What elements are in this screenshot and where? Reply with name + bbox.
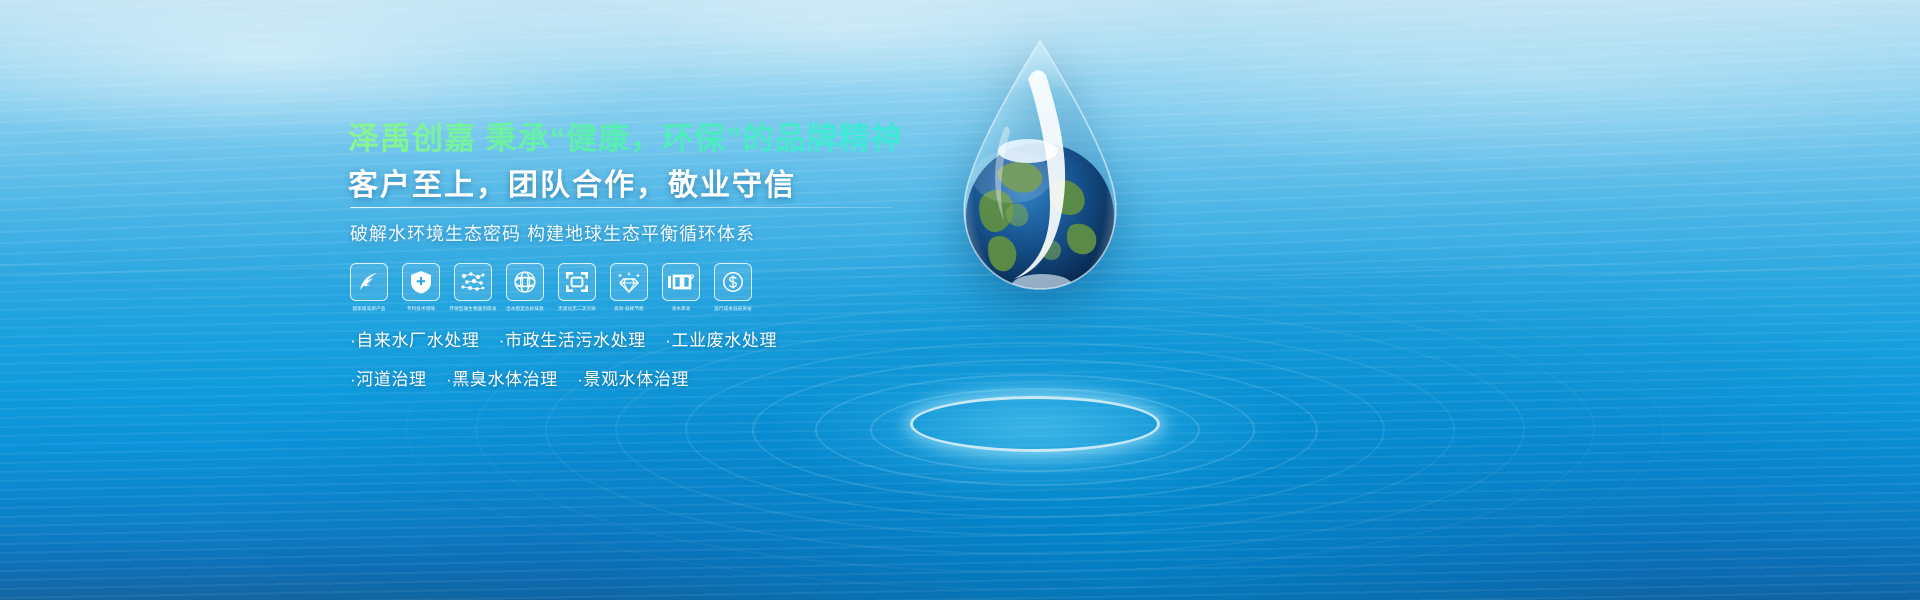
service-row-1: ·自来水厂水处理 ·市政生活污水处理 ·工业废水处理 [350, 326, 990, 351]
headline-brand-spirit: 泽禹创嘉 秉承“健康，环保”的品牌精神 [348, 113, 1048, 158]
feature-badge-row: 国家级高新产品 专利技术保障 [350, 263, 752, 310]
badge-diamond[interactable]: 高效 低耗节能 [610, 263, 648, 310]
hundred-percent-icon [662, 263, 700, 301]
service-item[interactable]: ·景观水体治理 [577, 370, 689, 389]
water-treatment-banner: 泽禹创嘉 秉承“健康，环保”的品牌精神 客户至上，团队合作，敬业守信 破解水环境… [0, 0, 1920, 600]
badge-wing-feather[interactable]: 国家级高新产品 [350, 263, 388, 310]
badge-caption: 运行成本低投资省 [702, 306, 764, 312]
divider-rule [350, 207, 892, 208]
badge-shield-plus[interactable]: 专利技术保障 [402, 263, 440, 310]
service-item[interactable]: ·河道治理 [350, 370, 427, 389]
frame-bracket-icon [558, 263, 596, 301]
diamond-icon [610, 263, 648, 301]
wing-feather-icon [350, 263, 388, 301]
badge-frame-bracket[interactable]: 无泥化无二次污染 [558, 263, 596, 310]
service-item[interactable]: ·黑臭水体治理 [446, 370, 558, 389]
service-row-2: ·河道治理 ·黑臭水体治理 ·景观水体治理 [350, 365, 990, 390]
badge-dollar-circle[interactable]: 运行成本低投资省 [714, 263, 752, 310]
dollar-circle-icon [714, 263, 752, 301]
tagline-mission: 破解水环境生态密码 构建地球生态平衡循环体系 [350, 220, 1050, 246]
headline-values: 客户至上，团队合作，敬业守信 [348, 160, 1048, 204]
badge-hundred-percent[interactable]: 净水率高 [662, 263, 700, 310]
service-item[interactable]: ·市政生活污水处理 [499, 331, 646, 350]
service-list: ·自来水厂水处理 ·市政生活污水处理 ·工业废水处理 ·河道治理 ·黑臭水体治理… [350, 326, 990, 404]
badge-globe-sphere[interactable]: 出水稳定达标排放 [506, 263, 544, 310]
shield-plus-icon [402, 263, 440, 301]
service-item[interactable]: ·自来水厂水处理 [350, 331, 479, 350]
splash-ring [910, 396, 1160, 452]
service-item[interactable]: ·工业废水处理 [665, 331, 777, 350]
globe-sphere-icon [506, 263, 544, 301]
badge-molecule-network[interactable]: 环保型微生物菌剂研发 [454, 263, 492, 310]
molecule-network-icon [454, 263, 492, 301]
